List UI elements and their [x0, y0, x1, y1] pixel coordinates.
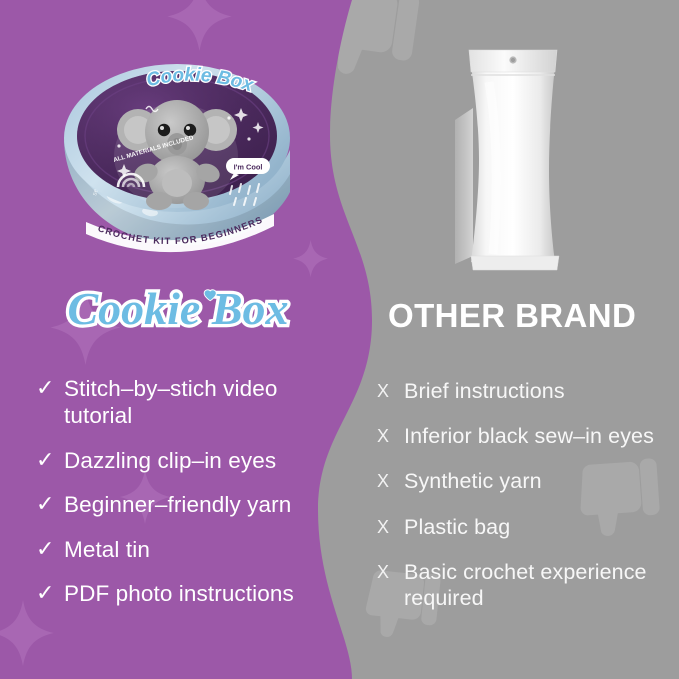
list-item-label: Metal tin [64, 536, 150, 563]
product-tin-image: sew-in eyes Cookie Box [58, 46, 304, 276]
check-icon: ✓ [36, 447, 64, 474]
list-item: ✓ Beginner–friendly yarn [36, 491, 336, 518]
list-item: ✓ Dazzling clip–in eyes [36, 447, 336, 474]
comparison-infographic: sew-in eyes Cookie Box [0, 0, 679, 679]
bag-body [471, 66, 555, 262]
cross-icon: X [377, 559, 404, 584]
list-item: X Synthetic yarn [377, 468, 662, 494]
competitor-heading: OTHER BRAND [388, 297, 668, 335]
list-item: X Brief instructions [377, 378, 662, 404]
list-item: ✓ PDF photo instructions [36, 580, 336, 607]
list-item-label: Beginner–friendly yarn [64, 491, 291, 518]
check-icon: ✓ [36, 375, 64, 402]
cross-icon: X [377, 378, 404, 403]
cross-icon: X [377, 468, 404, 493]
list-item-label: PDF photo instructions [64, 580, 294, 607]
list-item: X Basic crochet experience required [377, 559, 662, 611]
list-item: X Inferior black sew–in eyes [377, 423, 662, 449]
bag-base [471, 256, 559, 270]
list-item-label: Stitch–by–stich video tutorial [64, 375, 336, 430]
competitor-plastic-bag-image [437, 30, 617, 280]
list-item-label: Brief instructions [404, 378, 565, 404]
list-item-label: Inferior black sew–in eyes [404, 423, 654, 449]
cross-icon: X [377, 514, 404, 539]
speech-bubble-text: I'm Cool [234, 163, 263, 172]
list-item-label: Plastic bag [404, 514, 510, 540]
brand-feature-list: ✓ Stitch–by–stich video tutorial ✓ Dazzl… [36, 375, 336, 625]
cross-icon: X [377, 423, 404, 448]
bag-side-gusset [455, 108, 473, 264]
list-item-label: Basic crochet experience required [404, 559, 662, 611]
check-icon: ✓ [36, 536, 64, 563]
competitor-feature-list: X Brief instructions X Inferior black se… [377, 378, 662, 630]
check-icon: ✓ [36, 491, 64, 518]
list-item: X Plastic bag [377, 514, 662, 540]
list-item-label: Dazzling clip–in eyes [64, 447, 276, 474]
list-item-label: Synthetic yarn [404, 468, 542, 494]
brand-logo: Cookie Box [44, 279, 312, 341]
bag-hang-hole-inner [511, 58, 515, 62]
list-item: ✓ Stitch–by–stich video tutorial [36, 375, 336, 430]
list-item: ✓ Metal tin [36, 536, 336, 563]
brand-logo-text: Cookie Box [67, 283, 288, 334]
check-icon: ✓ [36, 580, 64, 607]
